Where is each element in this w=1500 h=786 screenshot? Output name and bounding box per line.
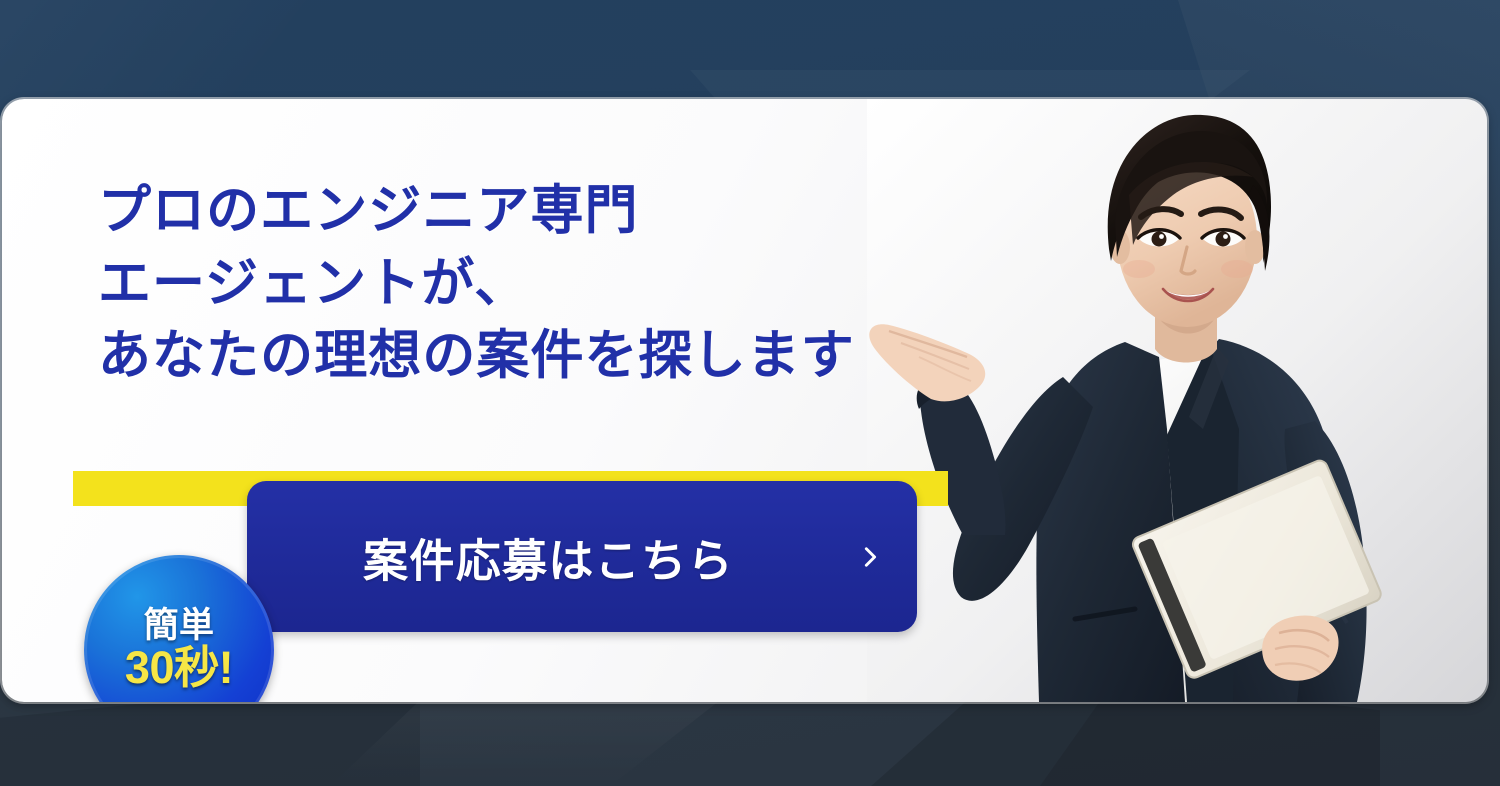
hero-card: プロのエンジニア専門 エージェントが、 あなたの理想の案件を探します 案件応募は… (2, 99, 1487, 702)
chevron-right-icon (859, 546, 881, 568)
headline: プロのエンジニア専門 エージェントが、 あなたの理想の案件を探します (98, 175, 855, 393)
headline-line-1: プロのエンジニア専門 (98, 175, 855, 248)
speed-badge[interactable]: 簡単 30秒! (84, 555, 274, 702)
headline-line-3: あなたの理想の案件を探します (98, 320, 855, 393)
apply-cta-label: 案件応募はこちら (363, 524, 734, 589)
headline-line-2: エージェントが、 (98, 248, 855, 321)
hero-banner: プロのエンジニア専門 エージェントが、 あなたの理想の案件を探します 案件応募は… (0, 0, 1500, 786)
apply-cta-button[interactable]: 案件応募はこちら (247, 481, 917, 632)
speed-badge-bottom-text: 30秒! (125, 645, 233, 692)
cta-block: 案件応募はこちら 簡単 30秒! (2, 481, 1487, 656)
speed-badge-top-text: 簡単 (144, 608, 215, 644)
